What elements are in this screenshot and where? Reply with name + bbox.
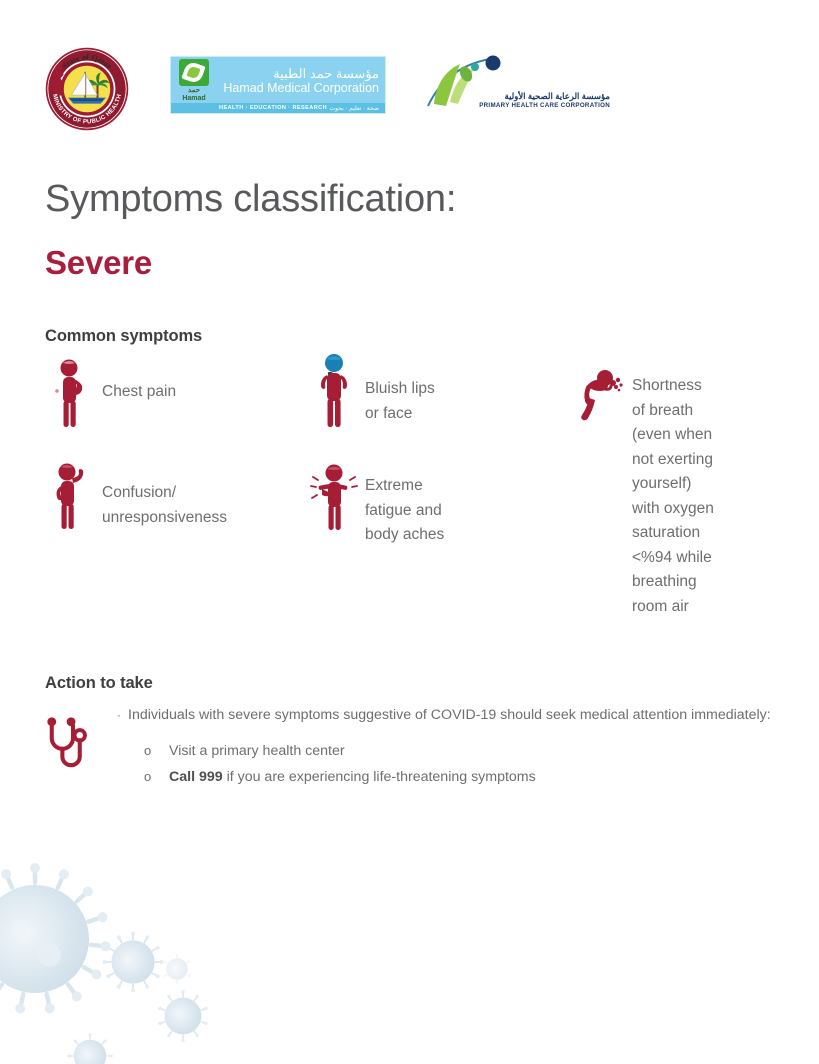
symptom-extreme-fatigue-label: Extreme fatigue and body aches xyxy=(365,462,444,548)
symptom-confusion-label: Confusion/ unresponsiveness xyxy=(102,460,305,530)
symptom-chest-pain: Chest pain xyxy=(40,358,300,430)
sub-bullet-marker: o xyxy=(144,764,169,790)
action-to-take-heading: Action to take xyxy=(45,674,153,693)
person-bluish-face-icon xyxy=(303,352,365,430)
common-symptoms-heading: Common symptoms xyxy=(45,327,202,346)
primary-health-care-corporation-logo: مؤسسة الرعاية الصحية الأولية PRIMARY HEA… xyxy=(420,54,610,116)
hmc-mark-english: Hamad xyxy=(182,95,205,103)
stethoscope-icon xyxy=(44,715,102,771)
symptom-shortness-of-breath-label: Shortness of breath (even when not exert… xyxy=(632,366,714,619)
action-primary-bullet: · Individuals with severe symptoms sugge… xyxy=(117,705,782,726)
bullet-marker: · xyxy=(117,705,128,726)
qatar-ministry-of-public-health-logo: State of Qatar MINISTRY OF PUBLIC HEALTH xyxy=(44,46,130,132)
action-sub-list: o Visit a primary health center o Call 9… xyxy=(144,738,782,790)
action-sub-item-visit-center-text: Visit a primary health center xyxy=(169,738,345,764)
person-confusion-icon xyxy=(40,460,102,532)
coronavirus-watermark xyxy=(0,764,320,1064)
hmc-tagline-arabic: صحة · تعليم · بحوث xyxy=(330,105,380,112)
action-sub-item-call-999: o Call 999 if you are experiencing life-… xyxy=(144,764,782,790)
page-title: Symptoms classification: xyxy=(45,176,456,222)
phcc-english-name: PRIMARY HEALTH CARE CORPORATION xyxy=(479,101,610,110)
sub-bullet-marker: o xyxy=(144,738,169,764)
hmc-arabic-name: مؤسسة حمد الطبية xyxy=(217,66,379,81)
person-body-aches-icon xyxy=(303,462,365,534)
action-sub-item-visit-center: o Visit a primary health center xyxy=(144,738,782,764)
call-999-remainder: if you are experiencing life-threatening… xyxy=(223,769,536,785)
infographic-page: State of Qatar MINISTRY OF PUBLIC HEALTH… xyxy=(0,0,819,1024)
action-primary-bullet-text: Individuals with severe symptoms suggest… xyxy=(128,705,771,726)
hmc-english-name: Hamad Medical Corporation xyxy=(217,81,379,95)
phcc-arabic-name: مؤسسة الرعاية الصحية الأولية xyxy=(479,92,610,101)
hamad-leaf-mark-icon: حمد Hamad xyxy=(171,57,217,103)
hmc-mark-arabic: حمد xyxy=(188,87,200,95)
action-sub-item-call-999-text: Call 999 if you are experiencing life-th… xyxy=(169,764,536,790)
symptom-extreme-fatigue-body-aches: Extreme fatigue and body aches xyxy=(303,462,553,548)
hmc-tagline-english: HEALTH · EDUCATION · RESEARCH xyxy=(219,105,327,111)
symptom-bluish-lips-or-face: Bluish lips or face xyxy=(303,352,568,430)
symptom-bluish-lips-label: Bluish lips or face xyxy=(365,352,435,426)
person-shortness-of-breath-icon xyxy=(570,366,632,422)
call-999-emphasis: Call 999 xyxy=(169,769,223,785)
symptom-confusion-unresponsiveness: Confusion/ unresponsiveness xyxy=(40,460,305,532)
severity-level-title: Severe xyxy=(45,243,152,283)
header-logo-row: State of Qatar MINISTRY OF PUBLIC HEALTH… xyxy=(44,44,774,136)
person-chest-pain-icon xyxy=(40,358,102,430)
hamad-medical-corporation-logo: حمد Hamad مؤسسة حمد الطبية Hamad Medical… xyxy=(170,56,386,114)
action-to-take-block: · Individuals with severe symptoms sugge… xyxy=(42,705,782,790)
symptom-shortness-of-breath: Shortness of breath (even when not exert… xyxy=(570,366,815,619)
symptom-chest-pain-label: Chest pain xyxy=(102,358,176,405)
